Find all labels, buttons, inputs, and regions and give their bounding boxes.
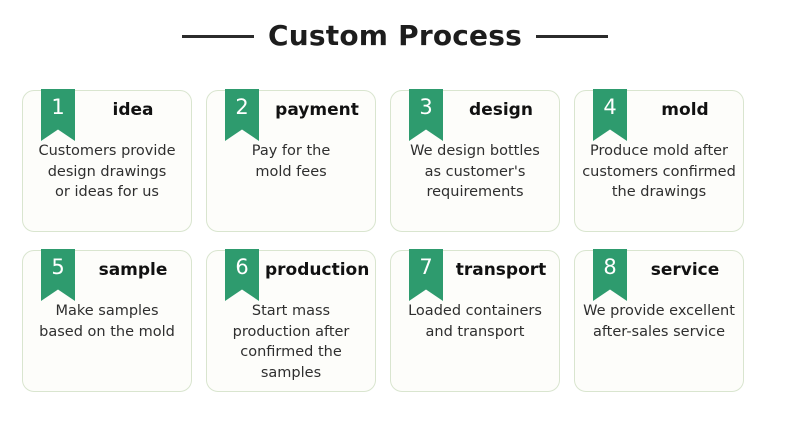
- card-header-6: 6 production: [207, 251, 375, 299]
- ribbon-badge-icon-7: 7: [409, 249, 443, 301]
- step-description-4: Produce mold after customers confirmed t…: [575, 139, 743, 203]
- step-number-8: 8: [603, 249, 616, 278]
- page-title: Custom Process: [268, 22, 522, 50]
- card-header-3: 3 design: [391, 91, 559, 139]
- ribbon-badge-icon-5: 5: [41, 249, 75, 301]
- card-header-7: 7 transport: [391, 251, 559, 299]
- title-rule-right-icon: [536, 35, 608, 38]
- ribbon-badge-icon-1: 1: [41, 89, 75, 141]
- step-description-3: We design bottles as customer's requirem…: [391, 139, 559, 203]
- process-step-card-5: 5 sample Make samples based on the mold: [22, 250, 192, 392]
- step-description-2: Pay for the mold fees: [207, 139, 375, 182]
- step-number-2: 2: [235, 89, 248, 118]
- process-step-card-2: 2 payment Pay for the mold fees: [206, 90, 376, 232]
- step-label-7: transport: [449, 261, 553, 280]
- step-description-1: Customers provide design drawings or ide…: [23, 139, 191, 203]
- custom-process-infographic: Custom Process 1 idea Customers provide …: [0, 0, 790, 429]
- step-number-3: 3: [419, 89, 432, 118]
- step-description-5: Make samples based on the mold: [23, 299, 191, 342]
- step-number-1: 1: [51, 89, 64, 118]
- step-label-1: idea: [81, 101, 185, 120]
- process-step-card-7: 7 transport Loaded containers and transp…: [390, 250, 560, 392]
- step-description-8: We provide excellent after-sales service: [575, 299, 743, 342]
- step-number-4: 4: [603, 89, 616, 118]
- process-step-card-3: 3 design We design bottles as customer's…: [390, 90, 560, 232]
- step-description-7: Loaded containers and transport: [391, 299, 559, 342]
- title-rule-left-icon: [182, 35, 254, 38]
- ribbon-badge-icon-8: 8: [593, 249, 627, 301]
- card-header-5: 5 sample: [23, 251, 191, 299]
- step-label-5: sample: [81, 261, 185, 280]
- process-steps-grid: 1 idea Customers provide design drawings…: [22, 90, 770, 392]
- header: Custom Process: [0, 14, 790, 58]
- process-step-card-4: 4 mold Produce mold after customers conf…: [574, 90, 744, 232]
- step-number-5: 5: [51, 249, 64, 278]
- step-description-6: Start mass production after confirmed th…: [207, 299, 375, 383]
- card-header-1: 1 idea: [23, 91, 191, 139]
- step-label-3: design: [449, 101, 553, 120]
- step-number-6: 6: [235, 249, 248, 278]
- card-header-2: 2 payment: [207, 91, 375, 139]
- ribbon-badge-icon-4: 4: [593, 89, 627, 141]
- step-label-4: mold: [633, 101, 737, 120]
- step-label-2: payment: [265, 101, 369, 120]
- step-label-6: production: [265, 261, 369, 280]
- ribbon-badge-icon-6: 6: [225, 249, 259, 301]
- ribbon-badge-icon-2: 2: [225, 89, 259, 141]
- process-step-card-8: 8 service We provide excellent after-sal…: [574, 250, 744, 392]
- process-step-card-1: 1 idea Customers provide design drawings…: [22, 90, 192, 232]
- card-header-8: 8 service: [575, 251, 743, 299]
- card-header-4: 4 mold: [575, 91, 743, 139]
- step-label-8: service: [633, 261, 737, 280]
- process-step-card-6: 6 production Start mass production after…: [206, 250, 376, 392]
- step-number-7: 7: [419, 249, 432, 278]
- ribbon-badge-icon-3: 3: [409, 89, 443, 141]
